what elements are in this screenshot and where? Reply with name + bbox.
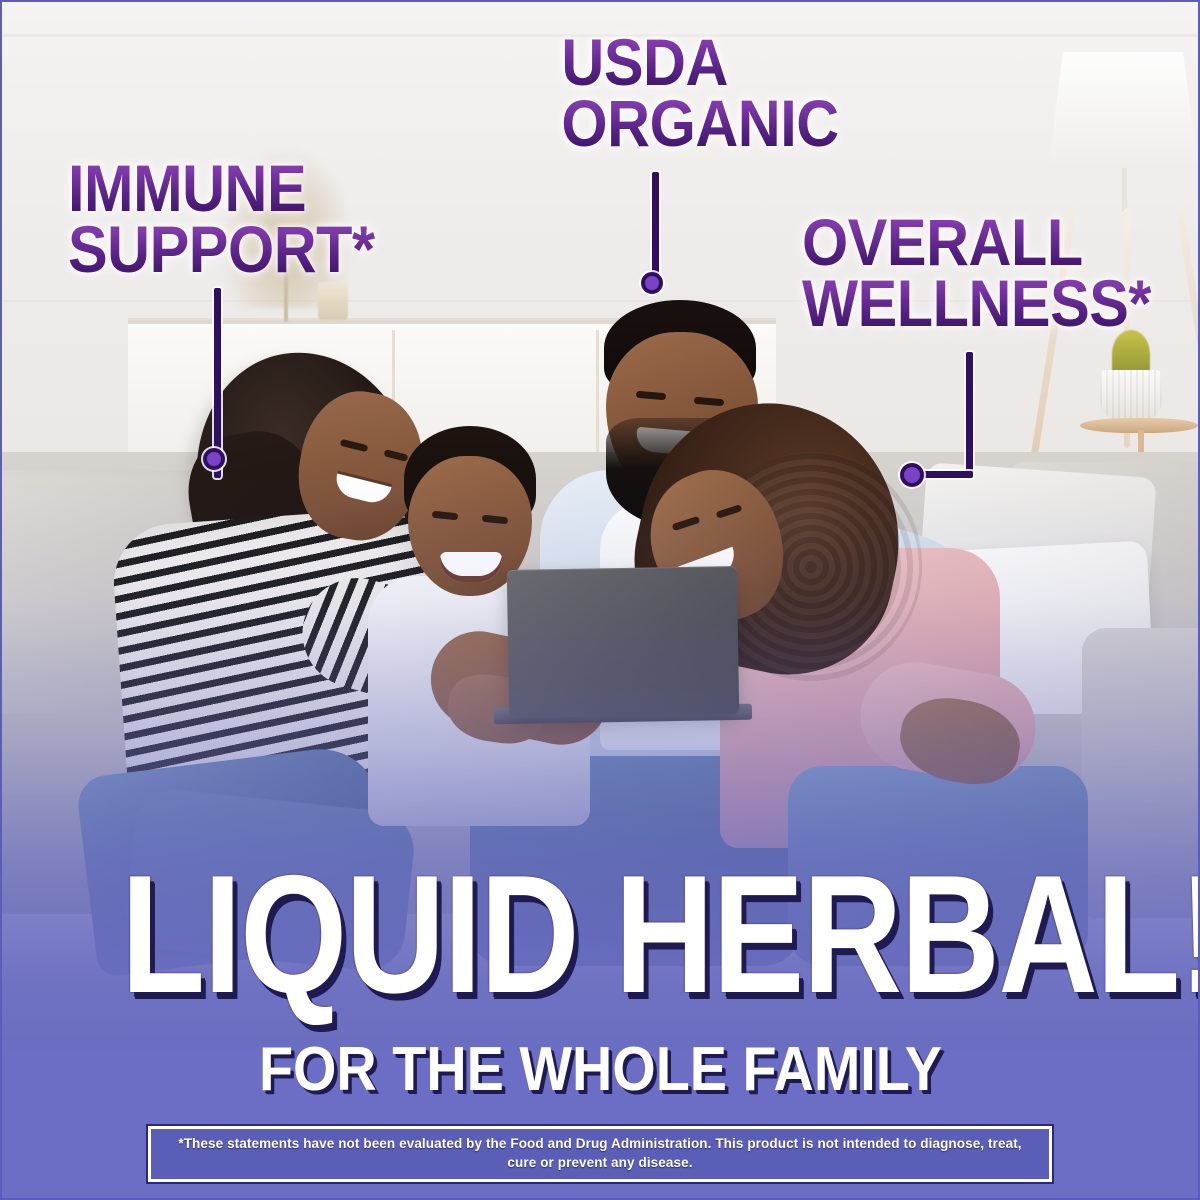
fda-disclaimer-box: *These statements have not been evaluate… <box>148 1126 1052 1182</box>
decor-jar <box>318 282 348 320</box>
callout-overall-wellness: OVERALL WELLNESS* <box>802 212 1190 333</box>
floor-lamp-shade <box>1048 52 1198 168</box>
connector-overall-vertical <box>966 352 973 478</box>
floor-lamp-stem <box>1122 168 1127 212</box>
connector-overall-horizontal <box>918 471 973 478</box>
callout-immune-support: IMMUNE SUPPORT* <box>68 158 409 279</box>
headline-main: LIQUID HERBAL! <box>121 862 1200 1006</box>
plant-vase-ribbing <box>1100 370 1162 422</box>
callout-usda-line-1: USDA <box>561 32 838 93</box>
subheadline-container: FOR THE WHOLE FAMILY <box>0 1034 1200 1105</box>
callout-overall-line-1: OVERALL <box>802 212 1151 273</box>
headline-sub: FOR THE WHOLE FAMILY <box>258 1034 941 1105</box>
callout-usda-line-2: ORGANIC <box>561 93 838 154</box>
callout-immune-line-1: IMMUNE <box>68 158 375 219</box>
callout-immune-line-2: SUPPORT* <box>68 219 375 280</box>
connector-usda-line <box>652 172 659 284</box>
fda-disclaimer-text: *These statements have not been evaluate… <box>169 1135 1031 1172</box>
connector-immune-dot <box>203 448 225 470</box>
callout-overall-line-2: WELLNESS* <box>802 273 1151 334</box>
product-image-canvas: IMMUNE SUPPORT* USDA ORGANIC OVERALL WEL… <box>0 0 1200 1200</box>
connector-usda-dot <box>641 272 663 294</box>
headline-container: LIQUID HERBAL! <box>0 862 1200 1006</box>
callout-usda-organic: USDA ORGANIC <box>546 32 854 153</box>
connector-overall-dot <box>900 463 924 487</box>
